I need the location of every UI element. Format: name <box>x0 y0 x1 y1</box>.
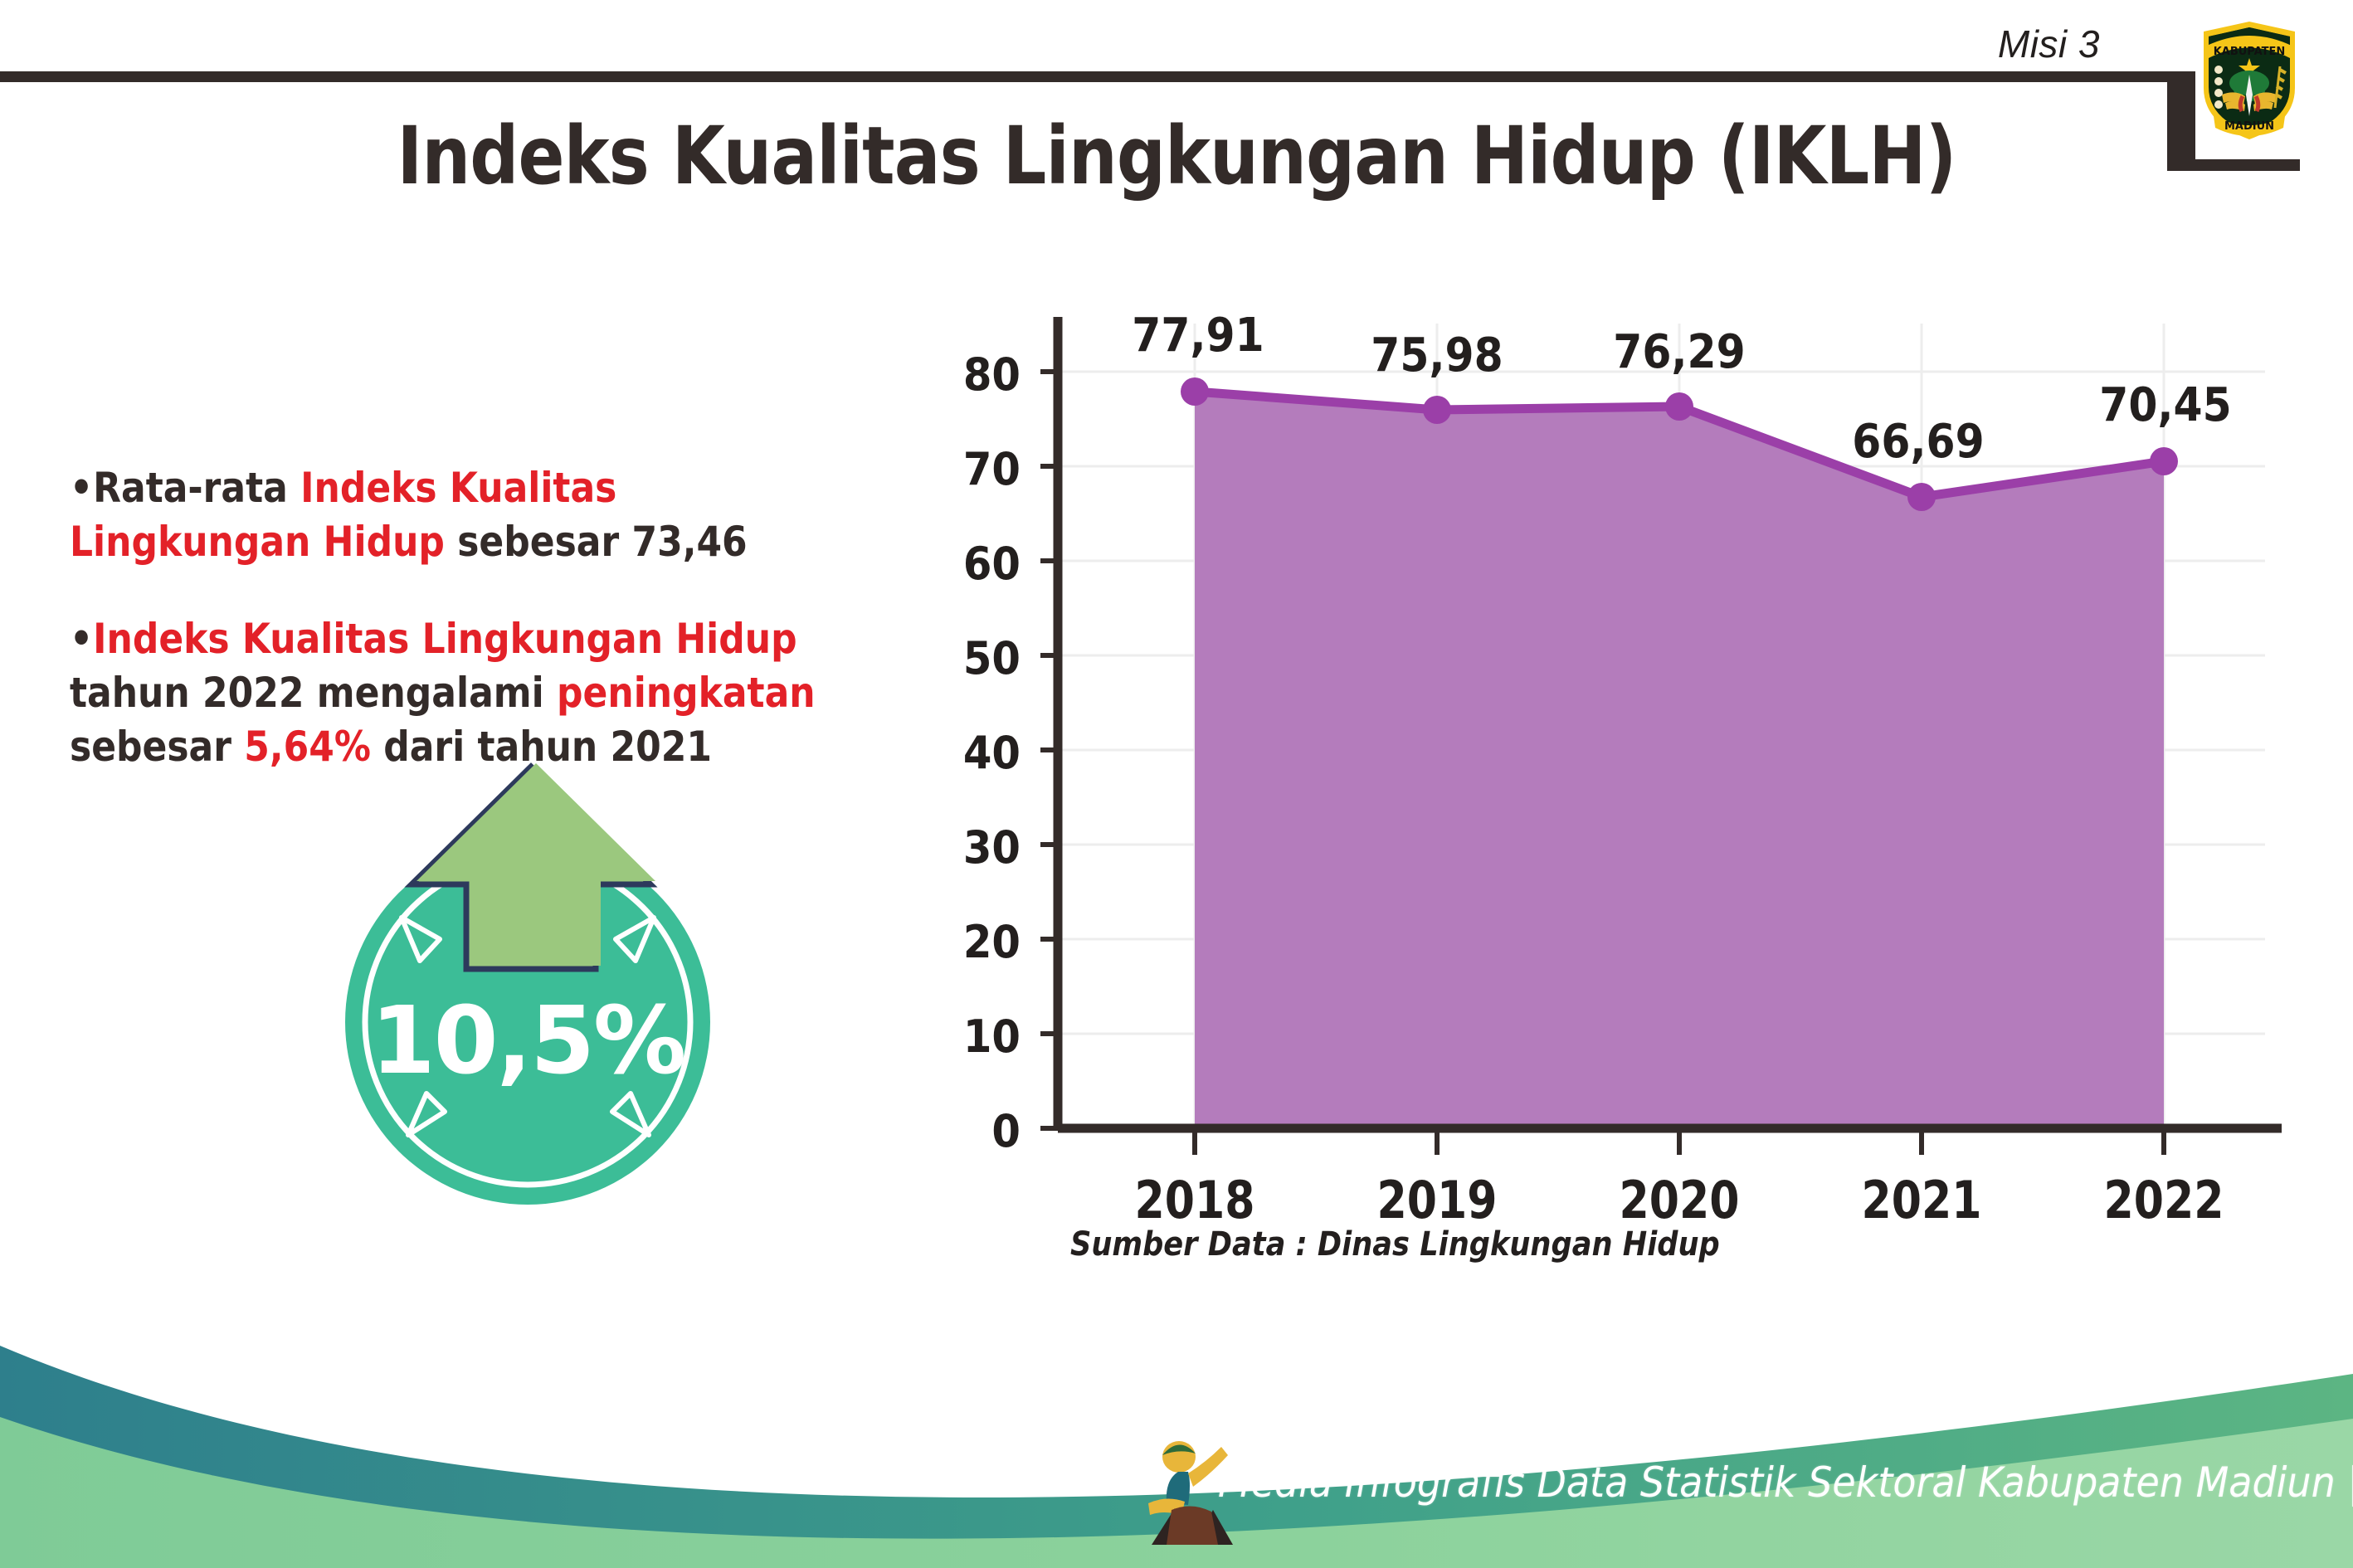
chart-ytick-60: 60 <box>929 538 1021 590</box>
bullet-1-seg-3: sebesar 73,46 <box>445 518 748 566</box>
crest-top-text: KABUPATEN <box>2214 46 2286 58</box>
chart-xtick-2021: 2021 <box>1845 1170 1999 1230</box>
iklh-area-chart: 80 70 60 50 40 30 20 10 0 2018 2019 2020… <box>954 274 2298 1203</box>
bullet-2-seg-4: peningkatan <box>557 669 816 717</box>
bullet-1-seg-1: •Rata-rata <box>70 464 300 512</box>
bullet-2-seg-1: • <box>70 615 93 663</box>
chart-datalabel-2018: 77,91 <box>1101 309 1295 363</box>
page-title: Indeks Kualitas Lingkungan Hidup (IKLH) <box>165 110 2189 202</box>
badge-graphics <box>322 747 753 1211</box>
chart-ytick-40: 40 <box>929 727 1021 779</box>
chart-ytick-20: 20 <box>929 916 1021 968</box>
chart-xtick-2020: 2020 <box>1603 1170 1756 1230</box>
chart-area-fill <box>1195 392 2164 1128</box>
chart-datalabel-2019: 75,98 <box>1340 329 1534 382</box>
chart-datalabel-2021: 66,69 <box>1821 415 2015 469</box>
badge-percent-label: 10,5% <box>345 987 710 1095</box>
slide-canvas: Misi 3 KABUPATEN MADIUN <box>0 0 2353 1568</box>
footer-caption: Media Infografis Data Statistik Sektoral… <box>1218 1458 2353 1507</box>
bullet-item-1: •Rata-rata Indeks Kualitas Lingkungan Hi… <box>70 461 865 569</box>
chart-ytick-10: 10 <box>929 1010 1021 1063</box>
kabupaten-madiun-crest-icon: KABUPATEN MADIUN <box>2197 18 2302 143</box>
chart-ytick-80: 80 <box>929 348 1021 401</box>
chart-xtick-2019: 2019 <box>1361 1170 1514 1230</box>
bullet-2-seg-2: Indeks Kualitas Lingkungan Hidup <box>93 615 797 663</box>
chart-ytick-50: 50 <box>929 632 1021 684</box>
chart-datalabel-2020: 76,29 <box>1582 325 1776 379</box>
chart-datalabel-2022: 70,45 <box>2068 378 2263 432</box>
chart-ytick-70: 70 <box>929 443 1021 495</box>
chart-ytick-0: 0 <box>929 1105 1021 1157</box>
chart-source-note: Sumber Data : Dinas Lingkungan Hidup <box>1070 1225 1720 1264</box>
chart-ytick-30: 30 <box>929 821 1021 874</box>
bullet-2-seg-3: tahun 2022 mengalami <box>70 669 557 717</box>
bullet-2-seg-5: sebesar <box>70 723 244 771</box>
increase-badge: 10,5% <box>322 747 753 1211</box>
chart-xtick-2022: 2022 <box>2087 1170 2241 1230</box>
header-divider-rule <box>0 71 2190 82</box>
mission-label: Misi 3 <box>1998 22 2100 66</box>
crest-bottom-text: MADIUN <box>2224 120 2274 133</box>
chart-xtick-2018: 2018 <box>1118 1170 1272 1230</box>
